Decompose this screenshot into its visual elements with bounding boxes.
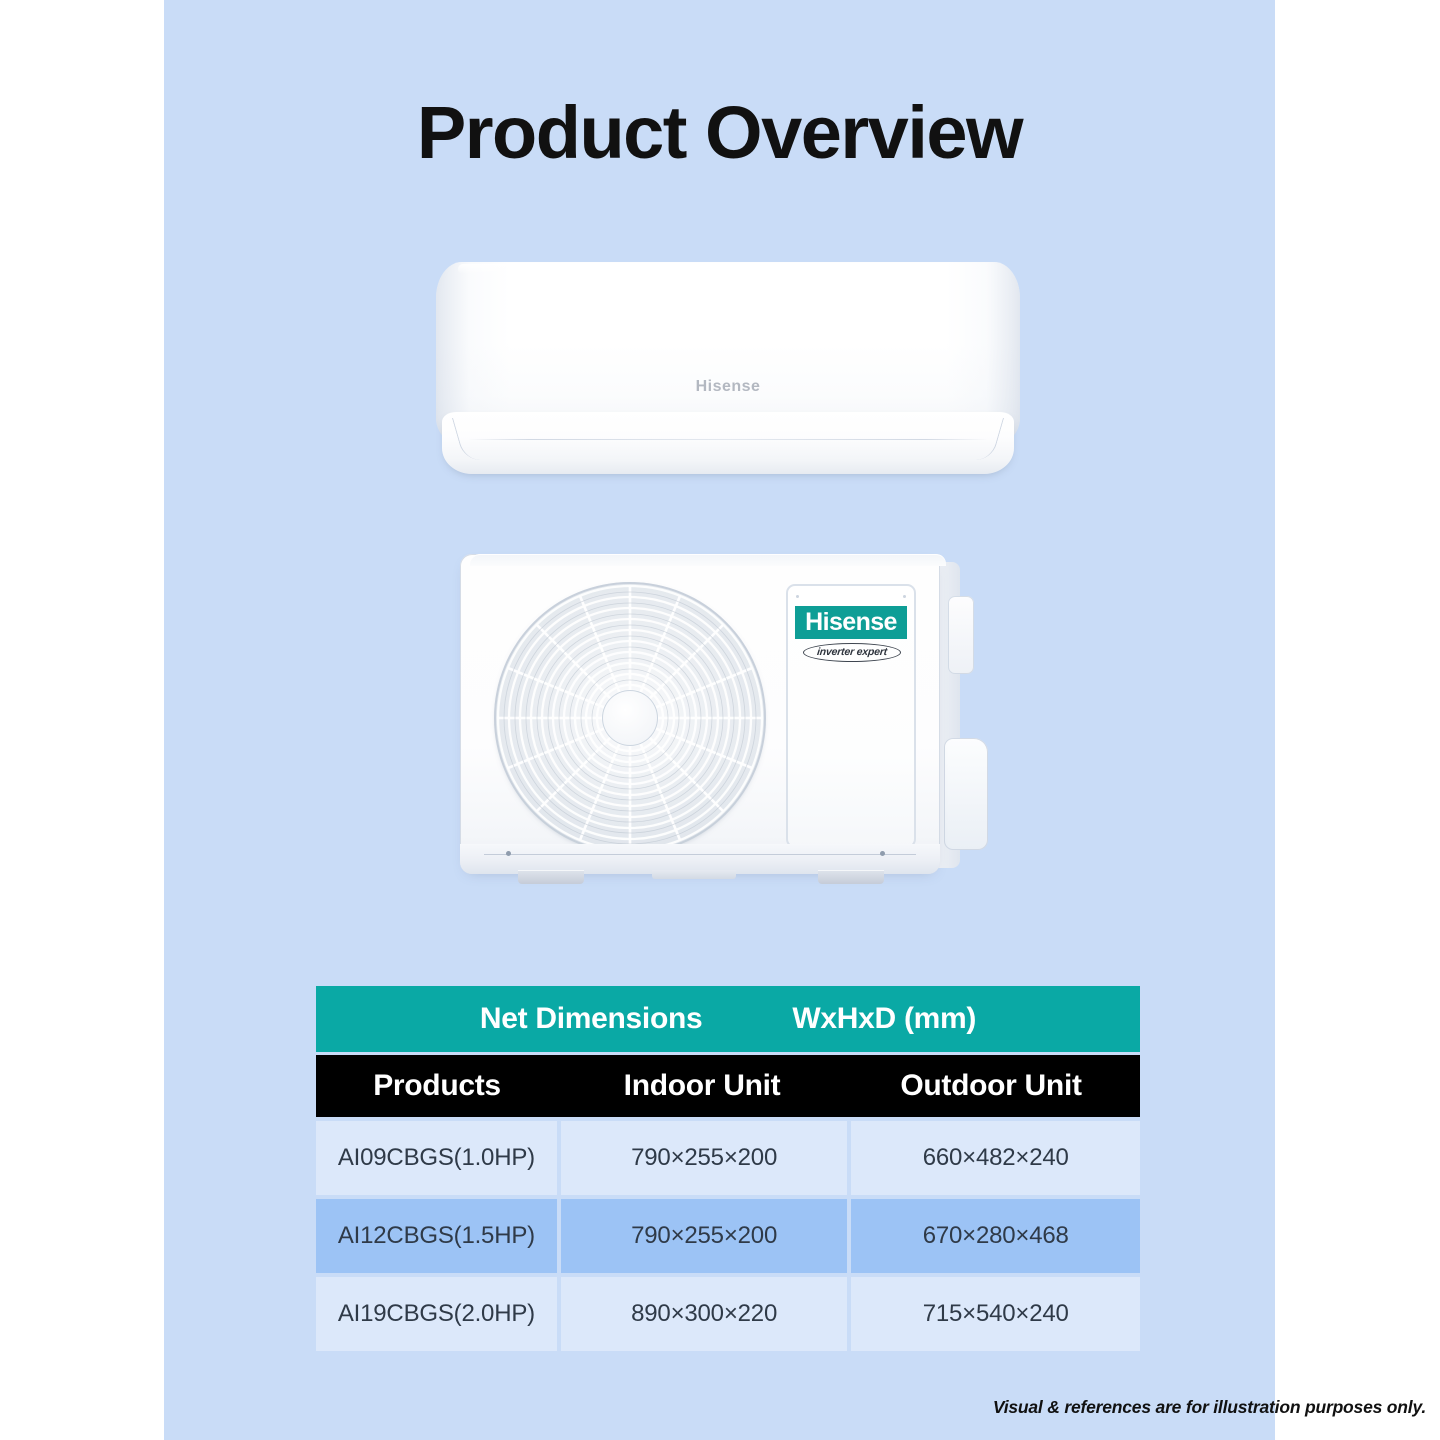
plate-dot-left	[796, 595, 799, 598]
table-row: AI19CBGS(2.0HP) 890×300×220 715×540×240	[316, 1277, 1140, 1351]
cell-indoor-dimensions: 890×300×220	[561, 1277, 848, 1351]
inverter-expert-badge: inverter expert	[803, 643, 901, 662]
indoor-unit-image: Hisense	[436, 262, 1020, 477]
cell-product: AI09CBGS(1.0HP)	[316, 1121, 557, 1195]
cell-product: AI12CBGS(1.5HP)	[316, 1199, 557, 1273]
indoor-unit-louver	[442, 412, 1014, 474]
cell-indoor-dimensions: 790×255×200	[561, 1121, 848, 1195]
hisense-logo-text: Hisense	[805, 610, 897, 635]
outdoor-unit-badge-plate: Hisense inverter expert	[786, 584, 916, 848]
table-header-row: Products Indoor Unit Outdoor Unit	[316, 1055, 1140, 1117]
outdoor-unit-body: Hisense inverter expert	[460, 554, 940, 874]
outdoor-unit-top-cap	[470, 554, 946, 566]
page-title: Product Overview	[164, 96, 1275, 170]
indoor-unit-top-edge	[458, 264, 998, 274]
cell-product: AI19CBGS(2.0HP)	[316, 1277, 557, 1351]
fan-grille-icon	[494, 582, 766, 854]
fan-hub	[602, 690, 658, 746]
base-seam	[484, 854, 916, 855]
base-bolt-left	[506, 851, 511, 856]
column-header-indoor-unit: Indoor Unit	[558, 1055, 846, 1117]
hisense-logo-badge: Hisense	[795, 606, 907, 639]
net-dimensions-table: Net Dimensions WxHxD (mm) Products Indoo…	[316, 986, 1140, 1351]
outdoor-unit-foot-right	[818, 870, 884, 884]
inverter-expert-text: inverter expert	[816, 647, 887, 658]
cell-indoor-dimensions: 790×255×200	[561, 1199, 848, 1273]
indoor-unit-logo: Hisense	[436, 378, 1020, 396]
cell-outdoor-dimensions: 670×280×468	[851, 1199, 1140, 1273]
table-row: AI12CBGS(1.5HP) 790×255×200 670×280×468	[316, 1199, 1140, 1273]
base-bolt-right	[880, 851, 885, 856]
plate-dot-right	[903, 595, 906, 598]
cell-outdoor-dimensions: 715×540×240	[851, 1277, 1140, 1351]
table-title-row: Net Dimensions WxHxD (mm)	[316, 986, 1140, 1052]
outdoor-unit-upper-valve-cover	[948, 596, 974, 674]
outdoor-unit-lower-pipe-cover	[944, 738, 988, 850]
outdoor-unit-center-rail	[652, 870, 736, 879]
disclaimer-text: Visual & references are for illustration…	[993, 1397, 1426, 1418]
column-header-outdoor-unit: Outdoor Unit	[846, 1055, 1136, 1117]
cell-outdoor-dimensions: 660×482×240	[851, 1121, 1140, 1195]
outdoor-unit-foot-left	[518, 870, 584, 884]
table-title-net-dimensions: Net Dimensions	[480, 1002, 703, 1036]
louver-seam	[468, 439, 988, 440]
table-title-wxhxd: WxHxD (mm)	[792, 1002, 976, 1036]
table-row: AI09CBGS(1.0HP) 790×255×200 660×482×240	[316, 1121, 1140, 1195]
outdoor-unit-image: Hisense inverter expert	[452, 548, 992, 896]
column-header-products: Products	[316, 1055, 558, 1117]
